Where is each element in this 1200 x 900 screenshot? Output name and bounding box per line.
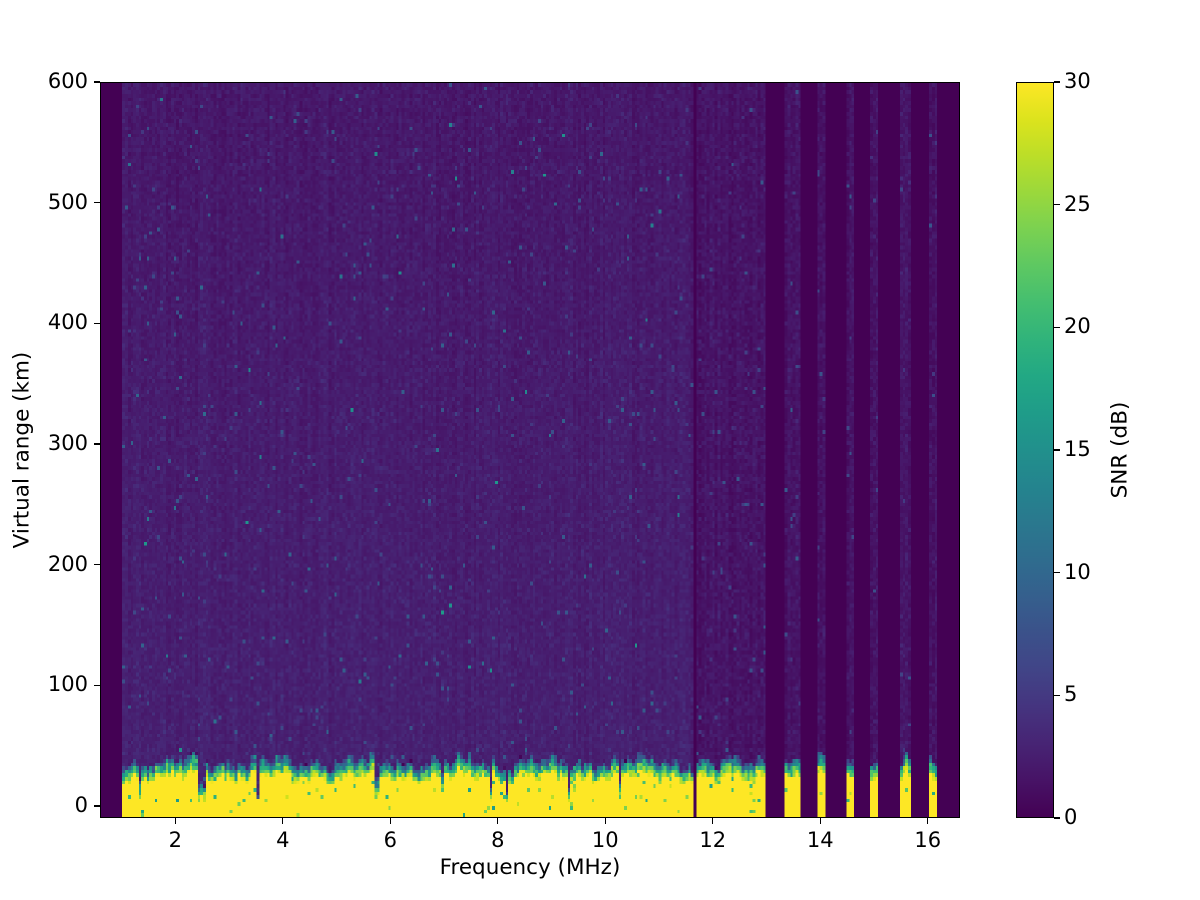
x-tick-mark (712, 818, 713, 824)
x-tick-label: 14 (780, 828, 860, 852)
x-axis-label: Frequency (MHz) (100, 855, 960, 880)
colorbar-tick-mark (1054, 204, 1060, 205)
colorbar-tick-label: 5 (1064, 682, 1077, 706)
colorbar-label: SNR (dB) (1108, 320, 1133, 580)
x-tick-label: 8 (458, 828, 538, 852)
x-tick-mark (282, 818, 283, 824)
colorbar-tick-label: 15 (1064, 437, 1091, 461)
ionogram-figure: IRF Kiruna Ionosonde KI167 2026-04-09 18… (0, 0, 1200, 900)
x-tick-label: 6 (350, 828, 430, 852)
colorbar-tick-mark (1054, 81, 1060, 82)
x-tick-mark (605, 818, 606, 824)
colorbar-tick-mark (1054, 817, 1060, 818)
colorbar-tick-mark (1054, 449, 1060, 450)
x-tick-mark (927, 818, 928, 824)
y-tick-label: 100 (4, 672, 88, 696)
x-tick-label: 16 (888, 828, 968, 852)
x-tick-label: 4 (243, 828, 323, 852)
colorbar-tick-label: 25 (1064, 192, 1091, 216)
x-tick-mark (390, 818, 391, 824)
x-tick-mark (497, 818, 498, 824)
y-tick-label: 0 (4, 793, 88, 817)
colorbar-tick-label: 30 (1064, 69, 1091, 93)
x-tick-mark (820, 818, 821, 824)
colorbar[interactable] (1016, 82, 1054, 818)
x-tick-label: 10 (565, 828, 645, 852)
colorbar-tick-mark (1054, 695, 1060, 696)
y-axis-label: Virtual range (km) (10, 300, 35, 600)
colorbar-tick-label: 20 (1064, 314, 1091, 338)
colorbar-tick-mark (1054, 327, 1060, 328)
x-tick-label: 2 (135, 828, 215, 852)
colorbar-tick-mark (1054, 572, 1060, 573)
colorbar-tick-label: 10 (1064, 560, 1091, 584)
x-tick-mark (175, 818, 176, 824)
ionogram-plot-area[interactable] (100, 82, 960, 818)
colorbar-tick-label: 0 (1064, 805, 1077, 829)
ionogram-heatmap-canvas[interactable] (101, 83, 959, 817)
x-tick-label: 12 (673, 828, 753, 852)
